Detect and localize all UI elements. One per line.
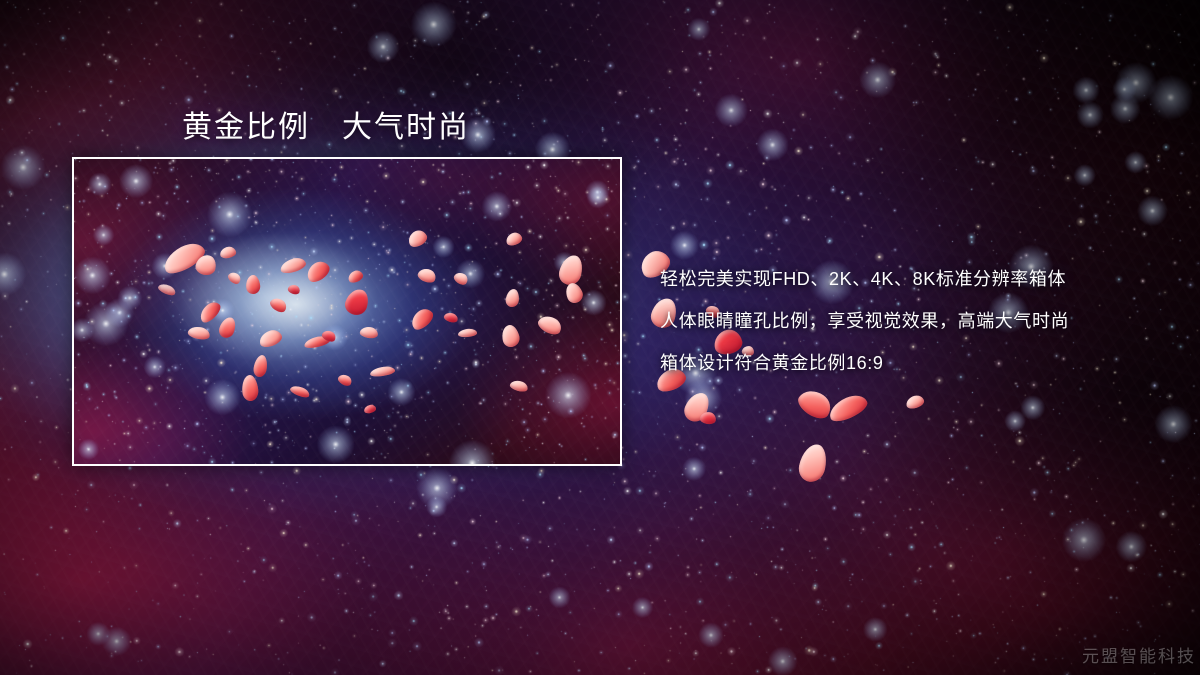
rose-petal-body	[826, 391, 871, 426]
slide-stage: 黄金比例 大气时尚 轻松完美实现FHD、2K、4K、8K标准分辨率箱体 人体眼睛…	[0, 0, 1200, 675]
body-line-2: 人体眼睛瞳孔比例，享受视觉效果，高端大气时尚	[660, 300, 1180, 342]
rose-petal	[699, 411, 717, 426]
framed-image-wisp	[74, 159, 620, 464]
page-title: 黄金比例 大气时尚	[182, 102, 470, 146]
rose-petal-body	[681, 389, 713, 425]
body-text-block: 轻松完美实现FHD、2K、4K、8K标准分辨率箱体 人体眼睛瞳孔比例，享受视觉效…	[660, 258, 1180, 384]
rose-petal	[794, 385, 836, 424]
rose-petal	[681, 389, 713, 425]
rose-petal-body	[796, 442, 829, 485]
framed-image-content	[74, 159, 620, 464]
rose-petal-body	[699, 411, 717, 426]
rose-petal-body	[905, 394, 926, 410]
framed-image	[72, 157, 622, 466]
rose-petal	[905, 394, 926, 410]
body-line-3: 箱体设计符合黄金比例16:9	[660, 342, 1180, 384]
watermark-label: 元盟智能科技	[1082, 642, 1196, 667]
rose-petal	[826, 391, 871, 426]
rose-petal-body	[794, 385, 836, 424]
rose-petal	[796, 442, 829, 485]
body-line-1: 轻松完美实现FHD、2K、4K、8K标准分辨率箱体	[660, 258, 1180, 300]
